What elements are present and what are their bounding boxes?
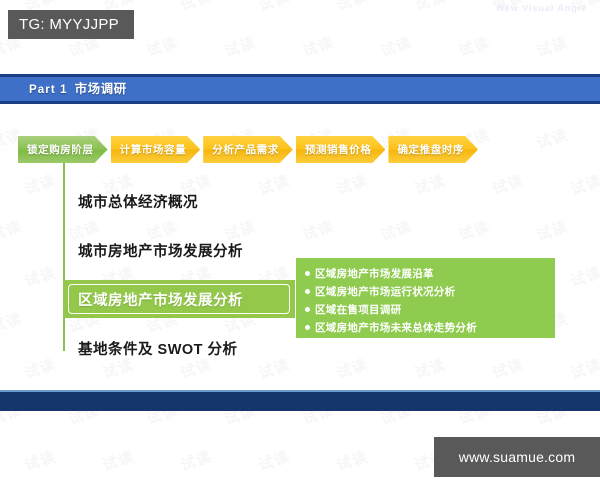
outline-item-4[interactable]: 基地条件及 SWOT 分析 <box>63 329 295 367</box>
tg-badge: TG: MYYJJPP <box>8 10 134 39</box>
watermark-text: 试读 <box>22 170 59 200</box>
watermark-text: 试读 <box>378 216 415 246</box>
watermark-text: 试读 <box>412 0 449 15</box>
bullet-icon <box>305 307 310 312</box>
watermark-text: 试读 <box>334 446 371 476</box>
sub-topic-item-4: 区域房地产市场未来总体走势分析 <box>305 319 555 336</box>
process-step-label: 确定推盘时序 <box>397 142 464 157</box>
watermark-text: 试读 <box>534 124 571 154</box>
watermark-text: 试读 <box>256 0 293 15</box>
process-step-2: 计算市场容量 <box>111 136 201 163</box>
outline-item-label: 区域房地产市场发展分析 <box>78 289 243 310</box>
process-step-label: 预测销售价格 <box>305 142 372 157</box>
process-chevron-row: 锁定购房阶层计算市场容量分析产品需求预测销售价格确定推盘时序 <box>18 136 481 163</box>
url-badge: www.suamue.com <box>434 437 600 477</box>
watermark-text: 试读 <box>334 0 371 15</box>
watermark-text: 试读 <box>222 32 259 62</box>
sub-topic-label: 区域房地产市场运行状况分析 <box>315 284 455 299</box>
watermark-text: 试读 <box>568 262 600 292</box>
process-step-label: 锁定购房阶层 <box>27 142 94 157</box>
watermark-text: 试读 <box>412 354 449 384</box>
watermark-text: 试读 <box>0 308 24 338</box>
bullet-icon <box>305 271 310 276</box>
sub-topic-item-2: 区域房地产市场运行状况分析 <box>305 283 555 300</box>
part-label: Part 1 <box>29 84 68 96</box>
watermark-text: 试读 <box>178 446 215 476</box>
sub-topic-item-1: 区域房地产市场发展沿革 <box>305 265 555 282</box>
outline-item-label: 城市总体经济概况 <box>78 191 198 212</box>
footer-band <box>0 392 600 411</box>
watermark-text: 试读 <box>568 170 600 200</box>
watermark-text: 试读 <box>334 170 371 200</box>
watermark-text: 试读 <box>568 354 600 384</box>
section-header-band: Part 1市场调研 <box>0 74 600 104</box>
process-step-5: 确定推盘时序 <box>388 136 478 163</box>
watermark-text: 试读 <box>412 170 449 200</box>
watermark-text: 试读 <box>334 354 371 384</box>
watermark-text: 试读 <box>456 32 493 62</box>
outline-list: 城市总体经济概况城市房地产市场发展分析区域房地产市场发展分析基地条件及 SWOT… <box>63 182 295 378</box>
outline-item-label: 基地条件及 SWOT 分析 <box>78 338 238 359</box>
bullet-icon <box>305 289 310 294</box>
watermark-text: 试读 <box>100 446 137 476</box>
process-step-label: 计算市场容量 <box>120 142 187 157</box>
process-step-1: 锁定购房阶层 <box>18 136 108 163</box>
process-step-3: 分析产品需求 <box>203 136 293 163</box>
footer-brand: New Visual Angle <box>497 3 587 14</box>
watermark-text: 试读 <box>534 32 571 62</box>
section-title-cn: 市场调研 <box>75 82 127 96</box>
watermark-text: 试读 <box>256 446 293 476</box>
watermark-text: 试读 <box>378 32 415 62</box>
watermark-text: 试读 <box>490 354 527 384</box>
watermark-text: 试读 <box>300 32 337 62</box>
sub-topic-panel: 区域房地产市场发展沿革区域房地产市场运行状况分析区域在售项目调研区域房地产市场未… <box>296 258 555 338</box>
page-title: Part 1市场调研 <box>0 77 600 102</box>
watermark-text: 试读 <box>144 32 181 62</box>
watermark-text: 试读 <box>0 216 24 246</box>
slide-canvas: 试读试读试读试读试读试读试读试读试读试读试读试读试读试读试读试读试读试读试读试读… <box>0 0 600 480</box>
sub-topic-label: 区域在售项目调研 <box>315 302 401 317</box>
outline-item-3[interactable]: 区域房地产市场发展分析 <box>63 280 295 318</box>
outline-item-label: 城市房地产市场发展分析 <box>78 240 243 261</box>
process-step-label: 分析产品需求 <box>212 142 279 157</box>
sub-topic-item-3: 区域在售项目调研 <box>305 301 555 318</box>
outline-item-2[interactable]: 城市房地产市场发展分析 <box>63 231 295 269</box>
watermark-text: 试读 <box>456 216 493 246</box>
sub-topic-label: 区域房地产市场未来总体走势分析 <box>315 320 477 335</box>
watermark-text: 试读 <box>490 170 527 200</box>
outline-item-1[interactable]: 城市总体经济概况 <box>63 182 295 220</box>
watermark-text: 试读 <box>178 0 215 15</box>
watermark-text: 试读 <box>300 216 337 246</box>
watermark-text: 试读 <box>22 354 59 384</box>
watermark-text: 试读 <box>22 262 59 292</box>
watermark-text: 试读 <box>534 216 571 246</box>
watermark-text: 试读 <box>22 446 59 476</box>
sub-topic-label: 区域房地产市场发展沿革 <box>315 266 434 281</box>
process-step-4: 预测销售价格 <box>296 136 386 163</box>
bullet-icon <box>305 325 310 330</box>
